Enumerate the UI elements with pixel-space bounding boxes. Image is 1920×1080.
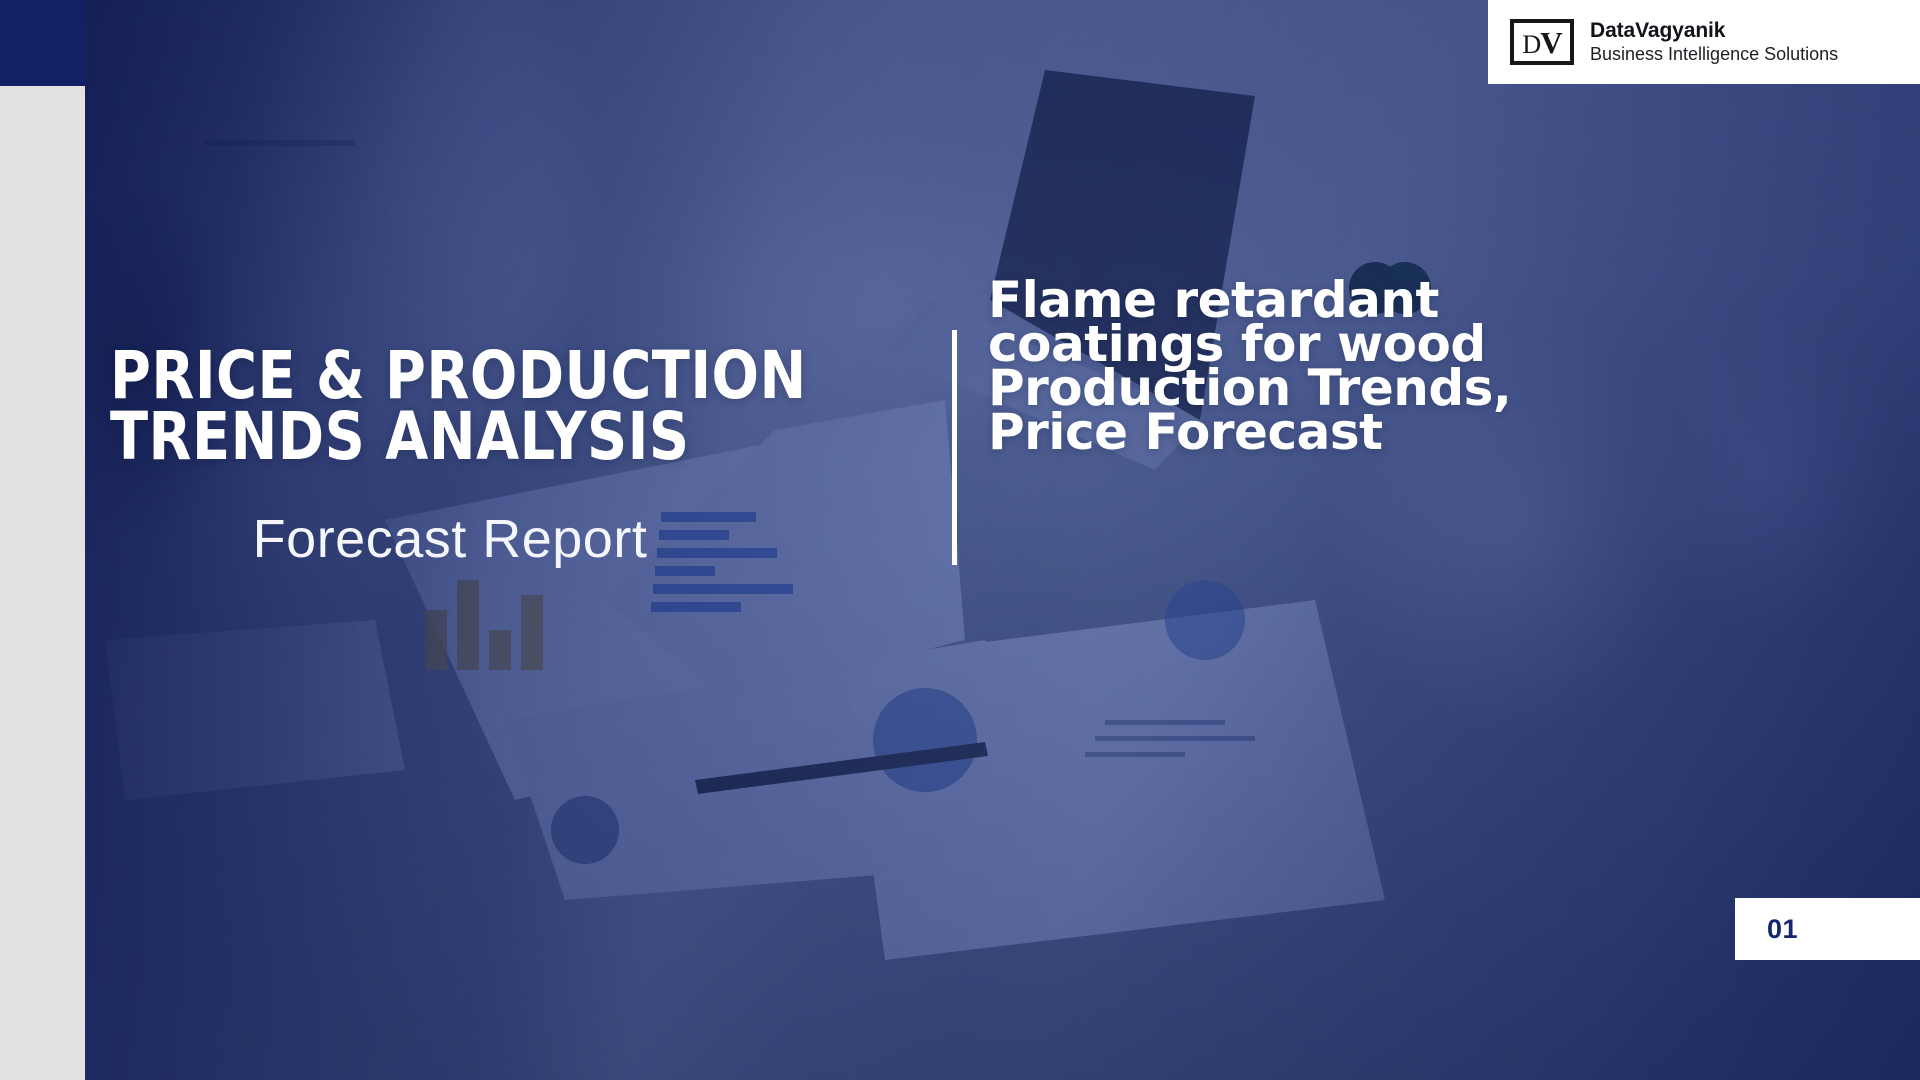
page-title: PRICE & PRODUCTION TRENDS ANALYSIS	[110, 345, 862, 468]
page-number-badge: 01	[1735, 898, 1920, 960]
datavagyanik-logo-icon: DV	[1510, 19, 1574, 65]
brand-name: DataVagyanik	[1590, 19, 1838, 44]
vertical-divider	[952, 330, 957, 565]
brand-text-group: DataVagyanik Business Intelligence Solut…	[1590, 19, 1838, 65]
brand-tagline: Business Intelligence Solutions	[1590, 44, 1838, 66]
left-edge-navy-block	[0, 0, 85, 86]
page-number: 01	[1767, 914, 1798, 945]
topic-block: Flame retardant coatings for wood Produc…	[988, 278, 1528, 454]
slide-canvas: DV DataVagyanik Business Intelligence So…	[0, 0, 1920, 1080]
left-edge-gray-strip	[0, 86, 85, 1080]
logo-letter-d: D	[1522, 30, 1540, 59]
brand-plate: DV DataVagyanik Business Intelligence So…	[1488, 0, 1920, 84]
headline-block: PRICE & PRODUCTION TRENDS ANALYSIS Forec…	[110, 345, 910, 566]
logo-letter-v: V	[1540, 25, 1561, 60]
page-subtitle: Forecast Report	[110, 512, 910, 566]
page-title-line-2: TRENDS ANALYSIS	[110, 406, 862, 467]
